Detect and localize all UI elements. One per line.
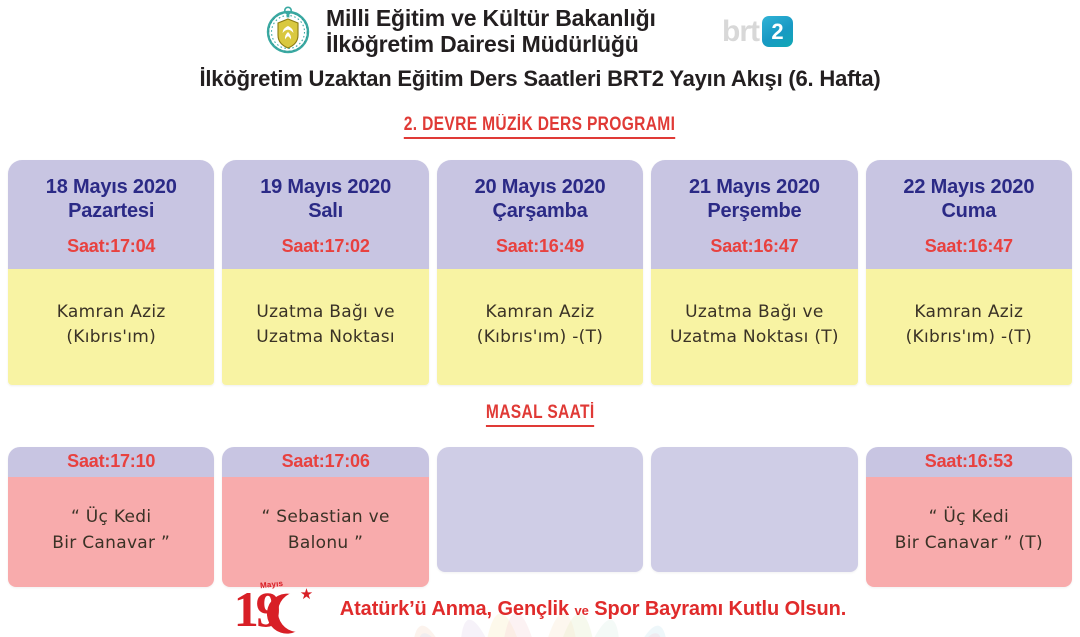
lesson-date: 22 Mayıs 2020 (872, 176, 1066, 200)
page-subtitle: İlköğretim Uzaktan Eğitim Ders Saatleri … (0, 66, 1080, 92)
lesson-day: Pazartesi (14, 200, 208, 224)
lesson-card-body: Kamran Aziz (Kıbrıs'ım) -(T) (866, 269, 1072, 385)
lesson-day: Perşembe (657, 200, 851, 224)
lesson-line: Uzatma Noktası (256, 325, 395, 351)
story-card-body: “ Üç Kedi Bir Canavar ” (T) (866, 477, 1072, 587)
lesson-date: 19 Mayıs 2020 (228, 176, 422, 200)
story-column-0: Saat:17:10 “ Üç Kedi Bir Canavar ” (8, 447, 214, 587)
story-time: Saat:16:53 (925, 451, 1013, 471)
lesson-line: Uzatma Bağı ve (670, 300, 839, 326)
lesson-card-body: Kamran Aziz (Kıbrıs'ım) (8, 269, 214, 385)
lesson-card[interactable]: 21 Mayıs 2020 Perşembe Saat:16:47 Uzatma… (651, 160, 857, 385)
ministry-title: Milli Eğitim ve Kültür Bakanlığı İlköğre… (326, 4, 656, 58)
footer-message: Atatürk’ü Anma, Gençlik ve Spor Bayramı … (340, 598, 846, 621)
story-line: “ Üç Kedi (895, 504, 1043, 530)
day-column-0: 18 Mayıs 2020 Pazartesi Saat:17:04 Kamra… (8, 160, 214, 385)
story-card-empty (651, 447, 857, 572)
story-time-strip: Saat:16:53 (866, 447, 1072, 477)
story-line: Bir Canavar ” (52, 530, 170, 556)
lesson-text: Kamran Aziz (Kıbrıs'ım) (57, 300, 166, 351)
story-column-4: Saat:16:53 “ Üç Kedi Bir Canavar ” (T) (866, 447, 1072, 587)
music-section-title: 2. DEVRE MÜZİK DERS PROGRAMI (404, 114, 675, 139)
story-line: “ Sebastian ve Balonu ” (230, 504, 420, 557)
lesson-card-header: 18 Mayıs 2020 Pazartesi Saat:17:04 (8, 160, 214, 269)
lesson-time: Saat:17:02 (228, 236, 422, 257)
story-time: Saat:17:06 (282, 451, 370, 471)
lesson-time: Saat:16:47 (657, 236, 851, 257)
page-root: Milli Eğitim ve Kültür Bakanlığı İlköğre… (0, 0, 1080, 637)
lesson-line: Kamran Aziz (57, 300, 166, 326)
lesson-day: Cuma (872, 200, 1066, 224)
lesson-line: (Kıbrıs'ım) -(T) (477, 325, 603, 351)
ministry-block: Milli Eğitim ve Kültür Bakanlığı İlköğre… (262, 4, 656, 58)
ministry-line-2: İlköğretim Dairesi Müdürlüğü (326, 32, 656, 58)
story-card-body: “ Sebastian ve Balonu ” (222, 477, 428, 587)
masal-section-title-row: MASAL SAATİ (0, 402, 1080, 427)
lesson-day: Salı (228, 200, 422, 224)
logo-month-label: Mayıs (259, 579, 283, 590)
story-card-body-empty (651, 447, 857, 572)
lesson-line: (Kıbrıs'ım) -(T) (906, 325, 1032, 351)
day-column-1: 19 Mayıs 2020 Salı Saat:17:02 Uzatma Bağ… (222, 160, 428, 385)
day-column-3: 21 Mayıs 2020 Perşembe Saat:16:47 Uzatma… (651, 160, 857, 385)
lesson-card-body: Kamran Aziz (Kıbrıs'ım) -(T) (437, 269, 643, 385)
lesson-card-body: Uzatma Bağı ve Uzatma Noktası (222, 269, 428, 385)
lesson-day: Çarşamba (443, 200, 637, 224)
lesson-time: Saat:17:04 (14, 236, 208, 257)
lesson-time: Saat:16:49 (443, 236, 637, 257)
story-card-empty (437, 447, 643, 572)
footer-message-part1: Atatürk’ü Anma, Gençlik (340, 598, 569, 620)
lesson-date: 20 Mayıs 2020 (443, 176, 637, 200)
masal-section-title-text: MASAL SAATİ (486, 402, 595, 427)
story-line: “ Üç Kedi (52, 504, 170, 530)
day-column-4: 22 Mayıs 2020 Cuma Saat:16:47 Kamran Azi… (866, 160, 1072, 385)
lesson-card[interactable]: 20 Mayıs 2020 Çarşamba Saat:16:49 Kamran… (437, 160, 643, 385)
story-card-body: “ Üç Kedi Bir Canavar ” (8, 477, 214, 587)
crescent-icon (273, 587, 323, 637)
footer-message-ve: ve (574, 603, 588, 618)
music-section-title-text: 2. DEVRE MÜZİK DERS PROGRAMI (404, 114, 675, 139)
story-time: Saat:17:10 (67, 451, 155, 471)
lesson-line: Kamran Aziz (477, 300, 603, 326)
trnc-coat-of-arms-icon (262, 5, 314, 57)
lesson-card-body: Uzatma Bağı ve Uzatma Noktası (T) (651, 269, 857, 385)
story-card[interactable]: Saat:17:06 “ Sebastian ve Balonu ” (222, 447, 428, 587)
story-card[interactable]: Saat:17:10 “ Üç Kedi Bir Canavar ” (8, 447, 214, 587)
story-grid: Saat:17:10 “ Üç Kedi Bir Canavar ” Saat:… (8, 447, 1072, 587)
lesson-card[interactable]: 22 Mayıs 2020 Cuma Saat:16:47 Kamran Azi… (866, 160, 1072, 385)
story-text: “ Sebastian ve Balonu ” (230, 504, 420, 557)
lesson-card-header: 19 Mayıs 2020 Salı Saat:17:02 (222, 160, 428, 269)
lesson-text: Kamran Aziz (Kıbrıs'ım) -(T) (906, 300, 1032, 351)
lesson-line: Uzatma Noktası (T) (670, 325, 839, 351)
footer-message-part2: Spor Bayramı Kutlu Olsun. (594, 598, 846, 620)
story-time-strip: Saat:17:10 (8, 447, 214, 477)
lesson-text: Kamran Aziz (Kıbrıs'ım) -(T) (477, 300, 603, 351)
lesson-line: Kamran Aziz (906, 300, 1032, 326)
ministry-line-1: Milli Eğitim ve Kültür Bakanlığı (326, 6, 656, 32)
lesson-text: Uzatma Bağı ve Uzatma Noktası (256, 300, 395, 351)
brt-logo-word: brt (722, 17, 759, 47)
story-text: “ Üç Kedi Bir Canavar ” (T) (895, 504, 1043, 557)
story-line: Bir Canavar ” (T) (895, 530, 1043, 556)
lesson-line: Uzatma Bağı ve (256, 300, 395, 326)
lesson-line: (Kıbrıs'ım) (57, 325, 166, 351)
lesson-card[interactable]: 19 Mayıs 2020 Salı Saat:17:02 Uzatma Bağ… (222, 160, 428, 385)
lesson-text: Uzatma Bağı ve Uzatma Noktası (T) (670, 300, 839, 351)
logo-number: 19 (234, 584, 278, 634)
19-mayis-logo: 19 Mayıs ★ (234, 582, 326, 636)
story-card-body-empty (437, 447, 643, 572)
masal-section-title: MASAL SAATİ (486, 402, 595, 427)
story-card[interactable]: Saat:16:53 “ Üç Kedi Bir Canavar ” (T) (866, 447, 1072, 587)
lesson-card-header: 20 Mayıs 2020 Çarşamba Saat:16:49 (437, 160, 643, 269)
story-text: “ Üç Kedi Bir Canavar ” (52, 504, 170, 557)
lesson-card-header: 22 Mayıs 2020 Cuma Saat:16:47 (866, 160, 1072, 269)
lesson-card-header: 21 Mayıs 2020 Perşembe Saat:16:47 (651, 160, 857, 269)
lesson-time: Saat:16:47 (872, 236, 1066, 257)
lesson-card[interactable]: 18 Mayıs 2020 Pazartesi Saat:17:04 Kamra… (8, 160, 214, 385)
day-column-2: 20 Mayıs 2020 Çarşamba Saat:16:49 Kamran… (437, 160, 643, 385)
brt2-logo: brt 2 (722, 16, 793, 47)
music-section-title-row: 2. DEVRE MÜZİK DERS PROGRAMI (0, 114, 1080, 139)
page-footer: 19 Mayıs ★ Atatürk’ü Anma, Gençlik ve Sp… (0, 581, 1080, 637)
page-header: Milli Eğitim ve Kültür Bakanlığı İlköğre… (0, 0, 1080, 100)
story-column-1: Saat:17:06 “ Sebastian ve Balonu ” (222, 447, 428, 587)
story-time-strip: Saat:17:06 (222, 447, 428, 477)
brt-logo-channel-badge: 2 (762, 16, 793, 47)
story-column-3 (651, 447, 857, 587)
lesson-date: 21 Mayıs 2020 (657, 176, 851, 200)
lesson-grid: 18 Mayıs 2020 Pazartesi Saat:17:04 Kamra… (8, 160, 1072, 385)
story-column-2 (437, 447, 643, 587)
lesson-date: 18 Mayıs 2020 (14, 176, 208, 200)
